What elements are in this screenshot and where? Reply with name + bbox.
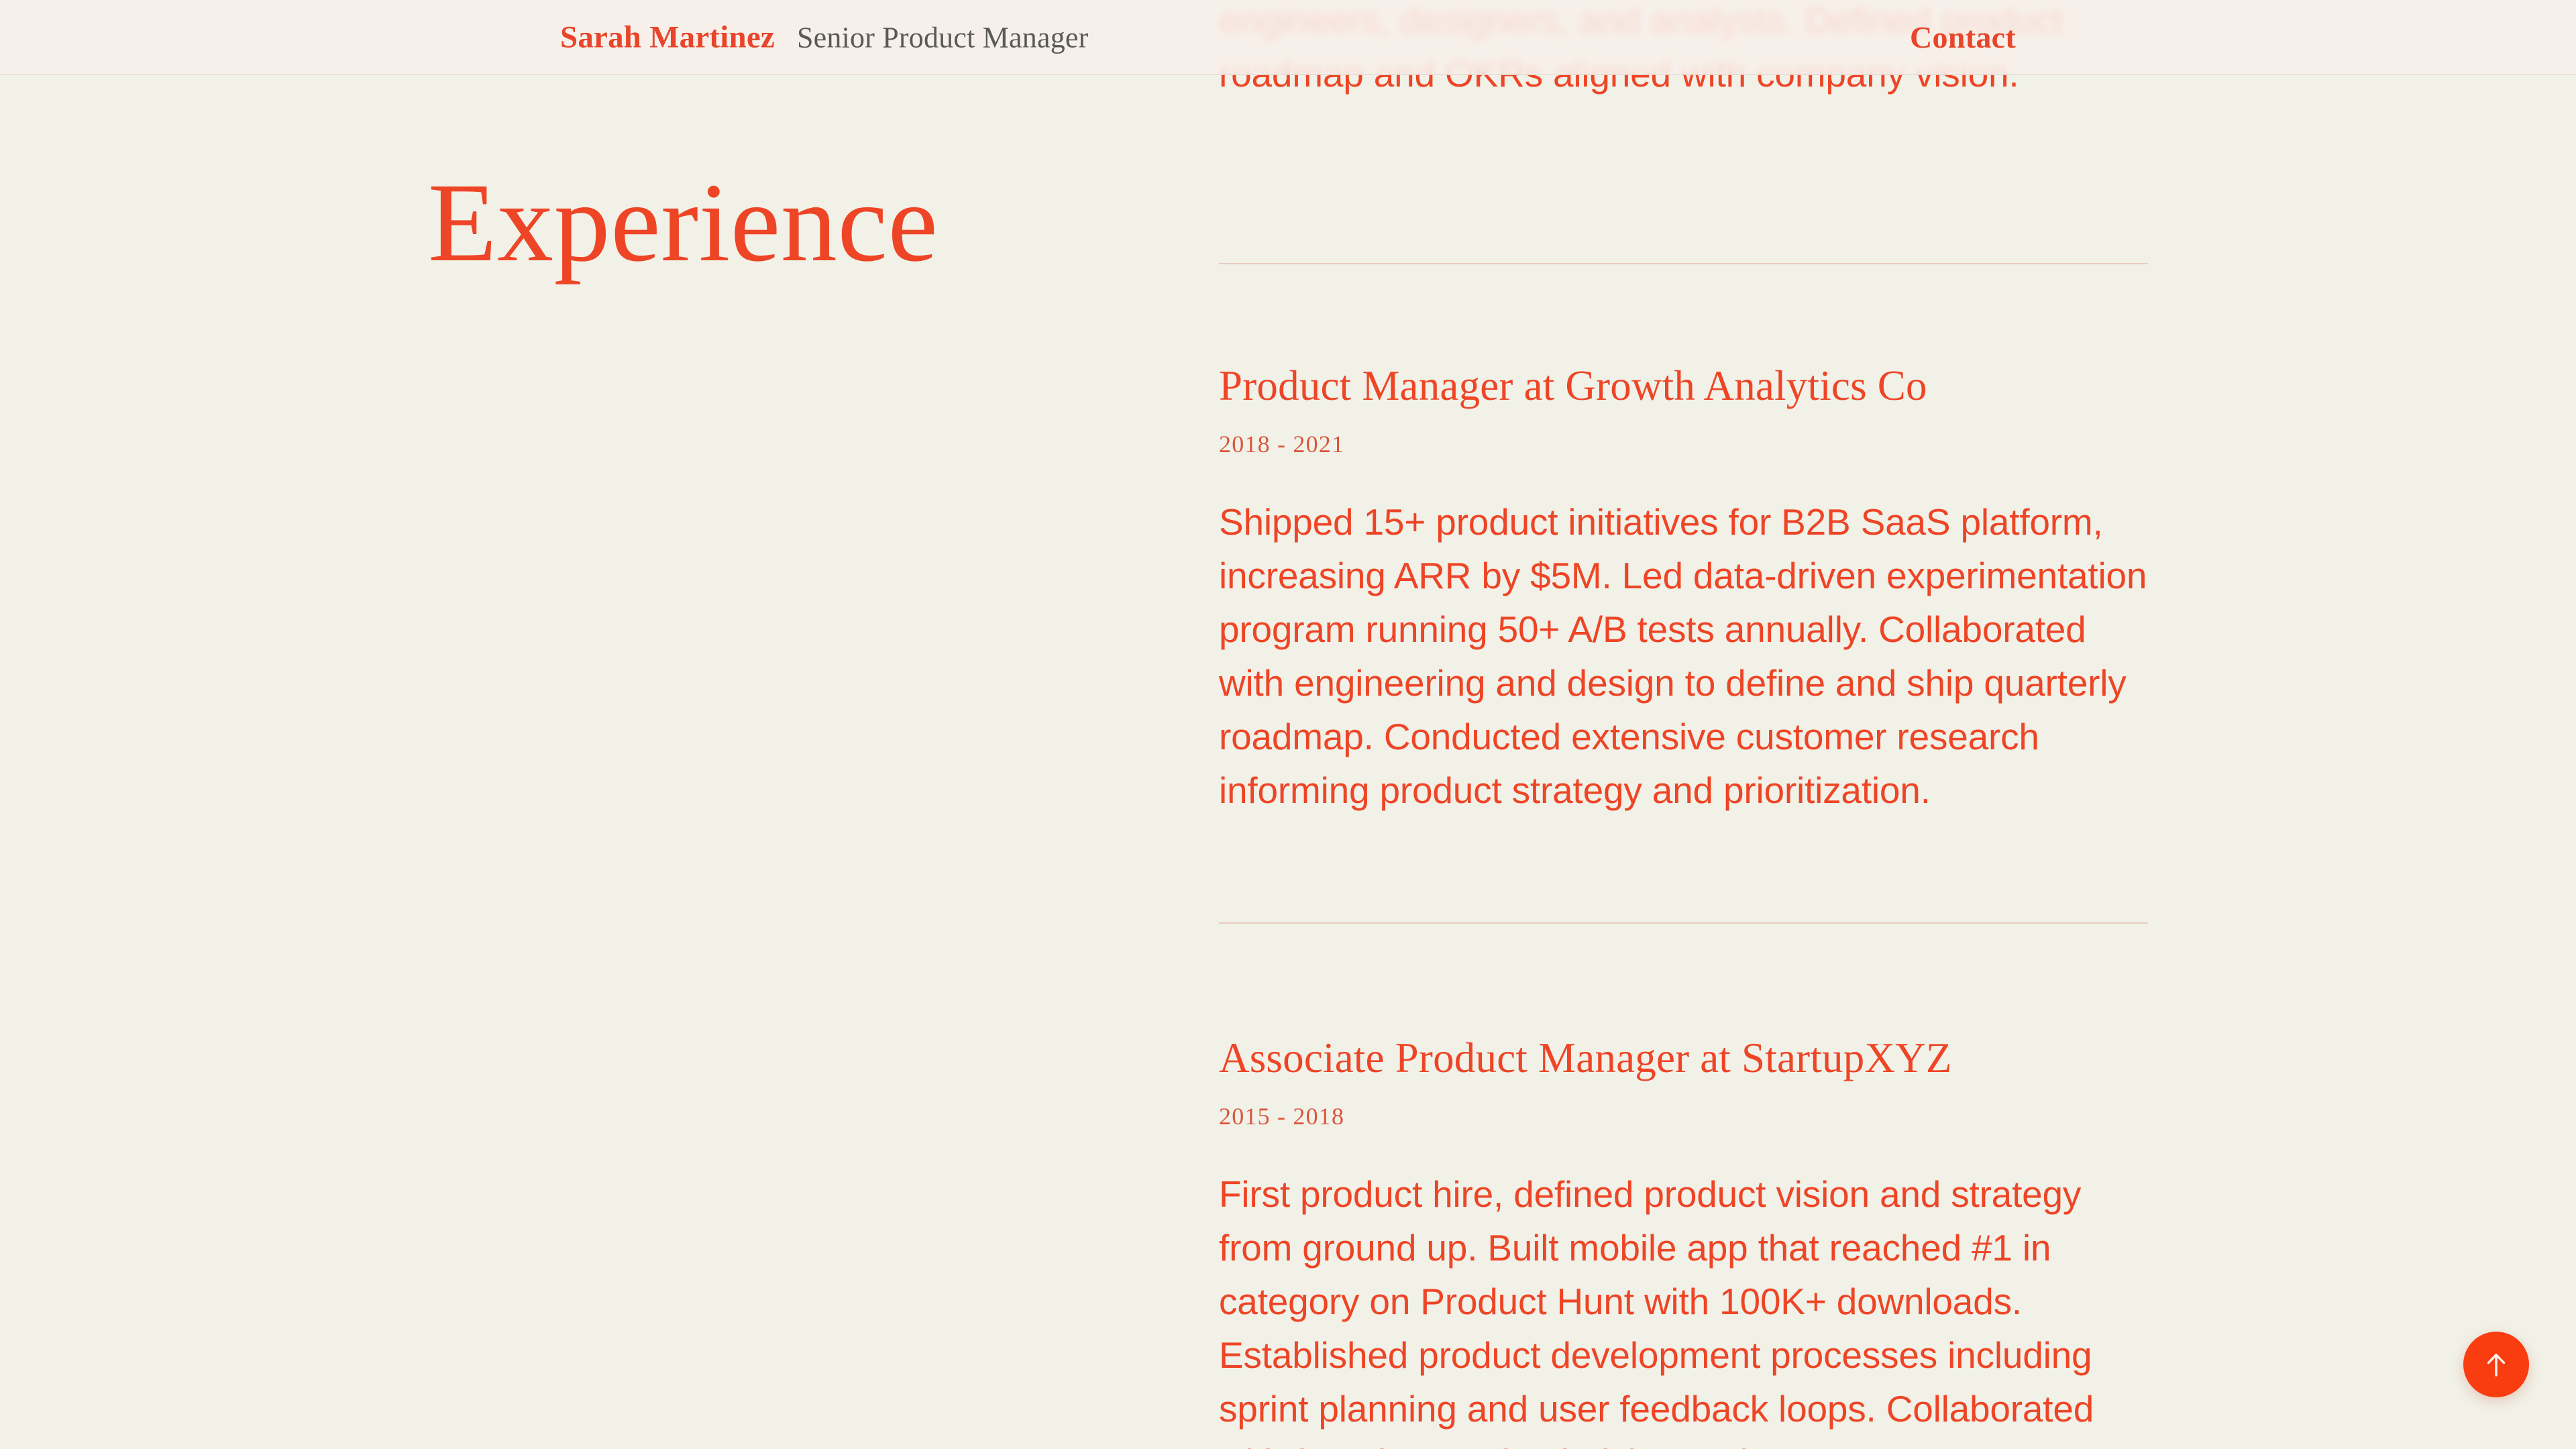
experience-entry: Product Manager at Growth Analytics Co 2… <box>1219 362 2148 817</box>
experience-entry: Associate Product Manager at StartupXYZ … <box>1219 1034 2148 1449</box>
scroll-to-top-button[interactable] <box>2463 1332 2529 1397</box>
entry-divider <box>1219 922 2148 924</box>
entry-dates: 2015 - 2018 <box>1219 1104 2148 1128</box>
brand-name[interactable]: Sarah Martinez <box>560 21 775 53</box>
entry-title: Product Manager at Growth Analytics Co <box>1219 362 2148 410</box>
entry-title: Associate Product Manager at StartupXYZ <box>1219 1034 2148 1082</box>
brand[interactable]: Sarah Martinez Senior Product Manager <box>560 21 1089 53</box>
page-root: engineers, designers, and analysts. Defi… <box>0 0 2576 1449</box>
entry-description: First product hire, defined product visi… <box>1219 1167 2148 1449</box>
entry-divider <box>1219 263 2148 264</box>
brand-role: Senior Product Manager <box>797 23 1089 52</box>
entry-dates: 2018 - 2021 <box>1219 432 2148 456</box>
arrow-up-icon <box>2483 1351 2509 1378</box>
site-header: Sarah Martinez Senior Product Manager Co… <box>0 0 2576 75</box>
page-title: Experience <box>428 166 938 279</box>
nav-link-contact[interactable]: Contact <box>1910 22 2016 53</box>
entry-description: Shipped 15+ product initiatives for B2B … <box>1219 495 2148 817</box>
